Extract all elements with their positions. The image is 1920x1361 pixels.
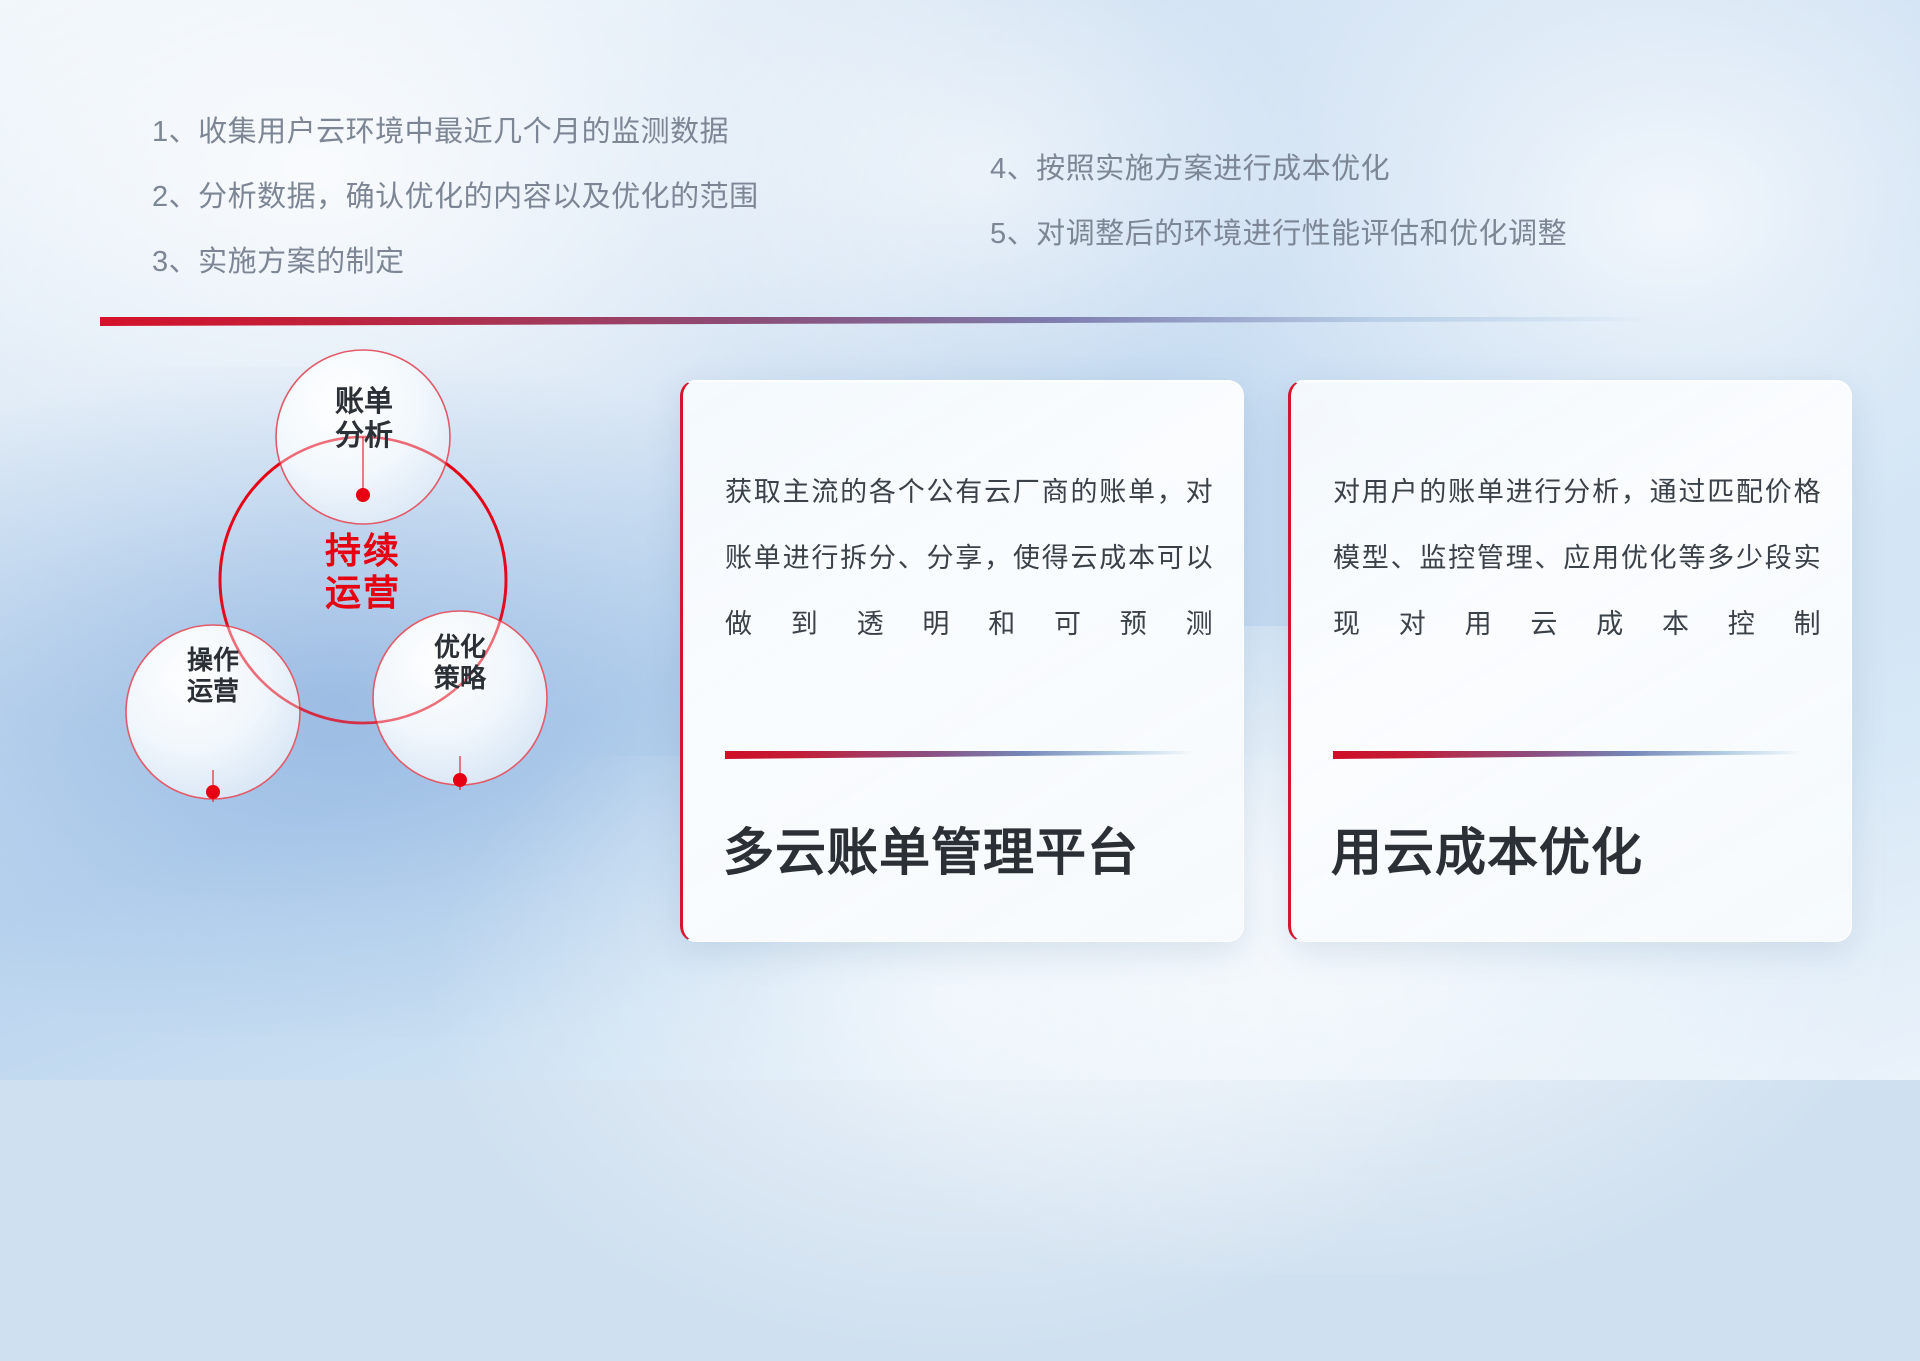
card-accent-rule <box>725 751 1195 759</box>
feature-card-cloud-cost-optimization[interactable]: 对用户的账单进行分析，通过匹配价格模型、监控管理、应用优化等多少段实现对用云成本… <box>1288 380 1852 942</box>
step-item-3: 3、实施方案的制定 <box>152 248 759 277</box>
step-item-4: 4、按照实施方案进行成本优化 <box>990 155 1567 184</box>
venn-diagram-graphic <box>88 340 558 820</box>
step-item-1: 1、收集用户云环境中最近几个月的监测数据 <box>152 118 759 147</box>
steps-right-column: 4、按照实施方案进行成本优化 5、对调整后的环境进行性能评估和优化调整 <box>990 155 1567 249</box>
venn-node-dot-bottom-left <box>206 785 220 799</box>
card-body-text: 获取主流的各个公有云厂商的账单，对账单进行拆分、分享，使得云成本可以做到透明和可… <box>725 459 1213 657</box>
venn-diagram: 账单 分析 持续 运营 操作 运营 优化 策略 <box>88 340 558 820</box>
steps-left-column: 1、收集用户云环境中最近几个月的监测数据 2、分析数据，确认优化的内容以及优化的… <box>152 118 759 277</box>
slide-content: 1、收集用户云环境中最近几个月的监测数据 2、分析数据，确认优化的内容以及优化的… <box>0 0 1920 1080</box>
venn-node-dot-bottom-right <box>453 773 467 787</box>
feature-card-multicloud-billing[interactable]: 获取主流的各个公有云厂商的账单，对账单进行拆分、分享，使得云成本可以做到透明和可… <box>680 380 1244 942</box>
card-accent-rule <box>1333 751 1803 759</box>
card-body-text: 对用户的账单进行分析，通过匹配价格模型、监控管理、应用优化等多少段实现对用云成本… <box>1333 459 1821 657</box>
step-item-5: 5、对调整后的环境进行性能评估和优化调整 <box>990 220 1567 249</box>
section-divider <box>100 317 1656 326</box>
venn-node-dot-top <box>356 488 370 502</box>
card-title: 用云成本优化 <box>1331 811 1827 885</box>
card-title: 多云账单管理平台 <box>723 811 1219 885</box>
step-item-2: 2、分析数据，确认优化的内容以及优化的范围 <box>152 183 759 212</box>
